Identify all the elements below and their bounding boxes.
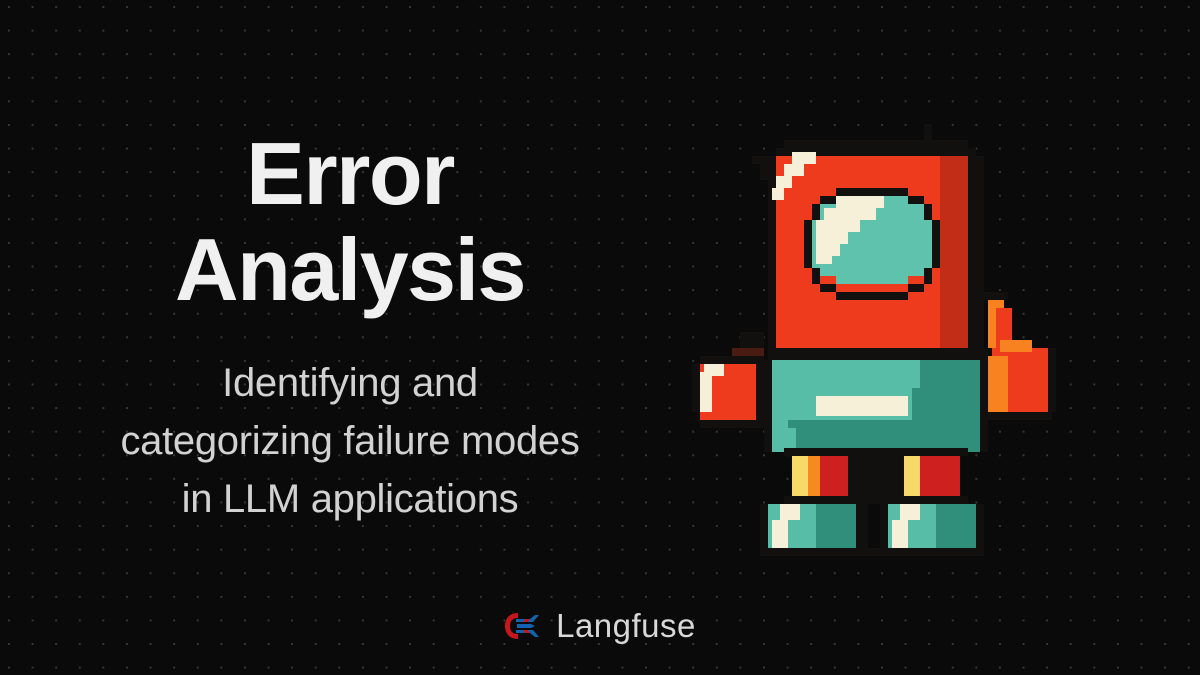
brand-name: Langfuse	[556, 607, 696, 645]
brand-footer: Langfuse	[0, 607, 1200, 645]
hero-text-block: Error Analysis Identifying and categoriz…	[0, 126, 700, 528]
langfuse-logo-icon	[504, 611, 540, 641]
page-subtitle: Identifying and categorizing failure mod…	[0, 354, 700, 528]
mascot-illustration	[680, 100, 1080, 580]
page-title: Error Analysis	[0, 126, 700, 318]
social-card: Error Analysis Identifying and categoriz…	[0, 0, 1200, 675]
pixel-robot-icon	[680, 100, 1080, 580]
